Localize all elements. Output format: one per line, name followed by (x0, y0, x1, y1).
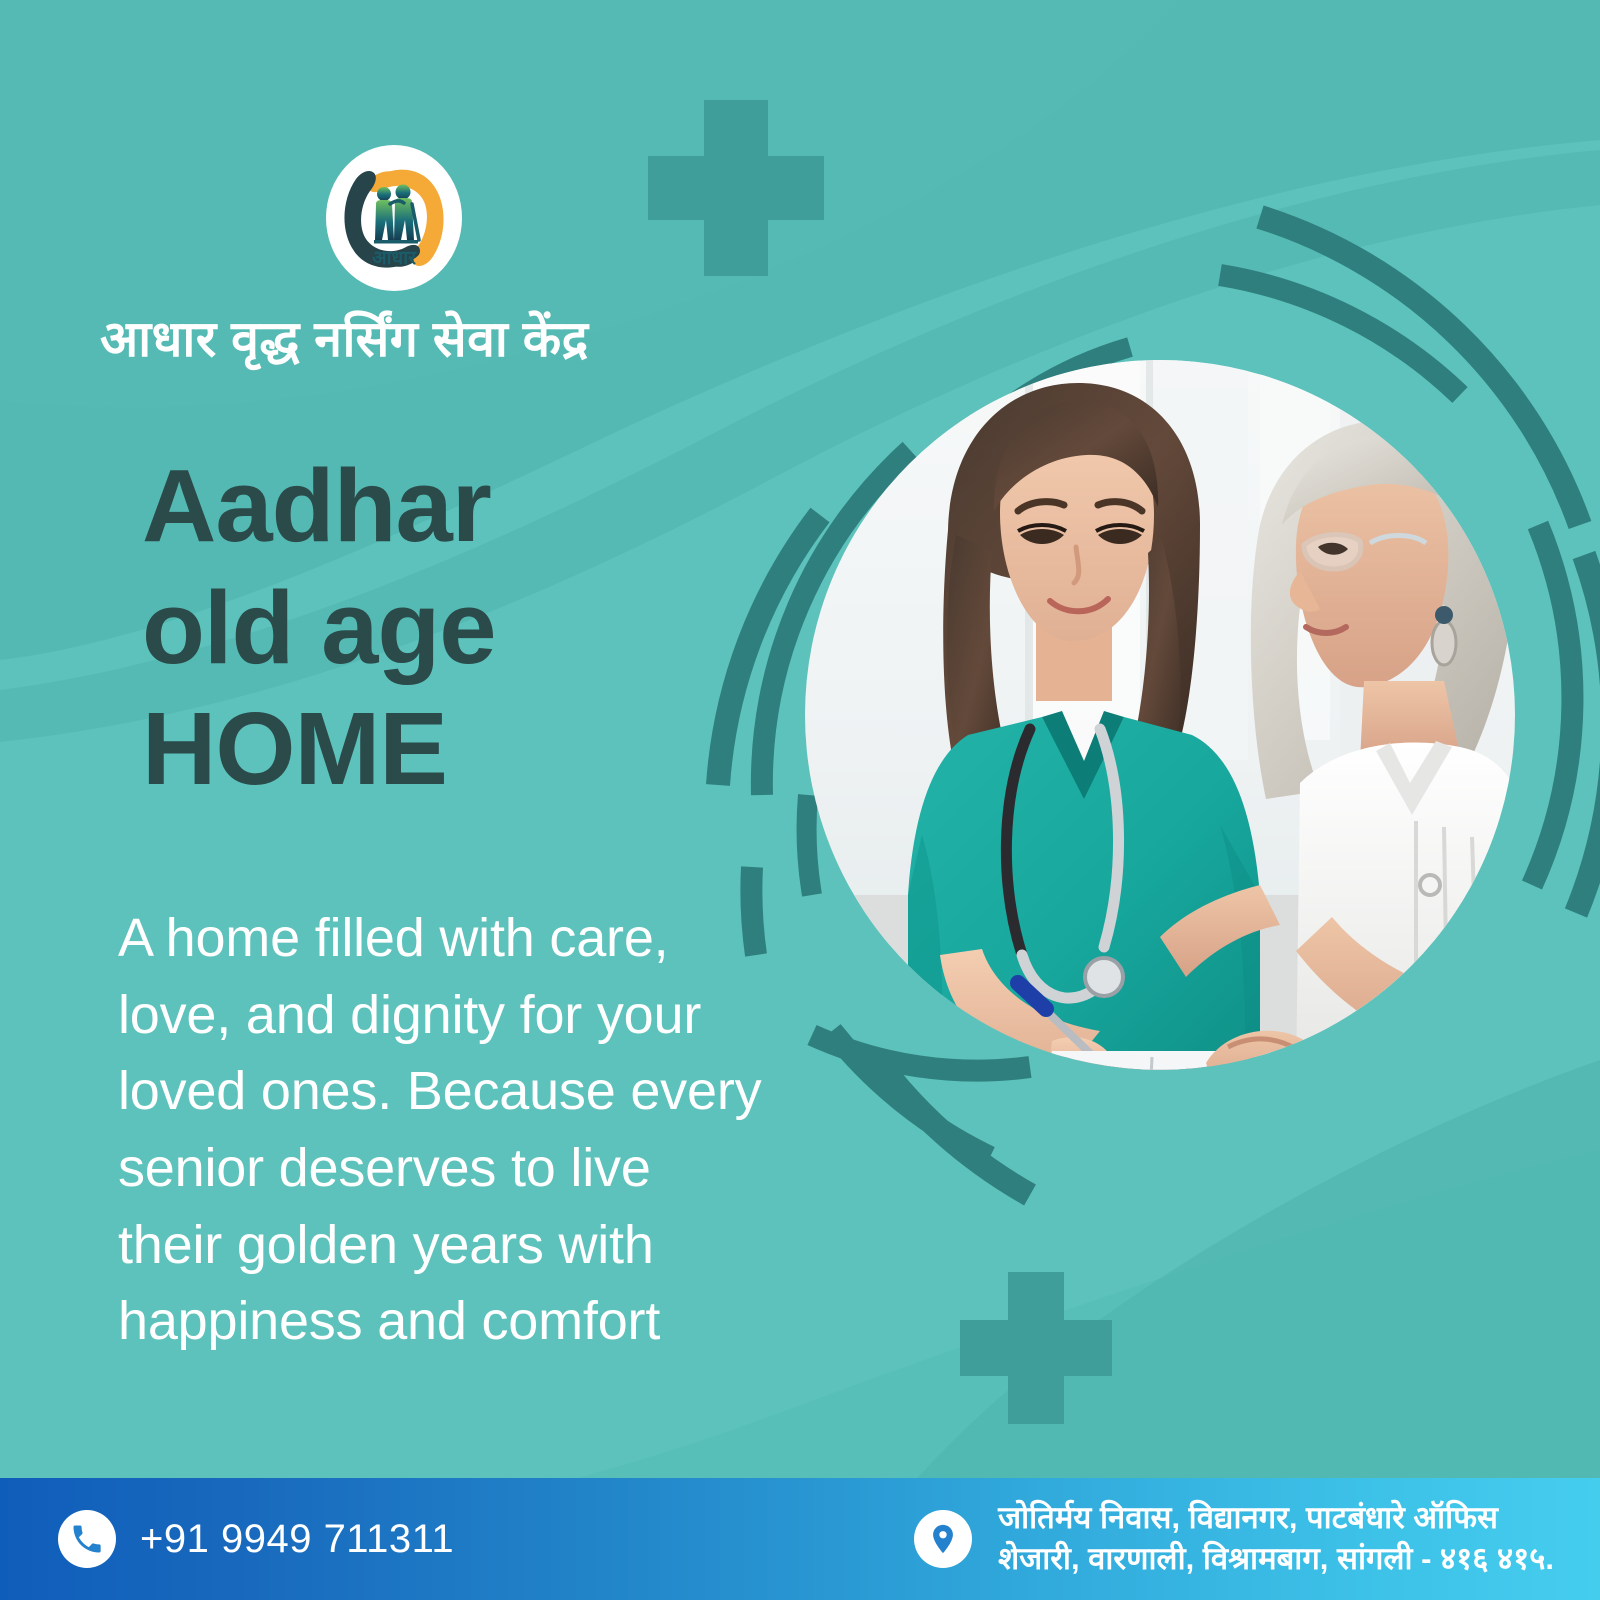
body-line-6: happiness and comfort (118, 1283, 868, 1360)
page-title: Aadhar old age HOME (142, 445, 762, 810)
nurse-elderly-photo (805, 360, 1538, 1155)
body-line-5: their golden years with (118, 1207, 868, 1284)
body-line-1: A home filled with care, (118, 900, 868, 977)
address-line-1: जोतिर्मय निवास, विद्यानगर, पाटबंधारे ऑफि… (998, 1498, 1554, 1539)
address: जोतिर्मय निवास, विद्यानगर, पाटबंधारे ऑफि… (998, 1498, 1554, 1580)
phone-contact[interactable]: +91 9949 711311 (58, 1510, 454, 1568)
headline-line-3: HOME (142, 688, 762, 810)
medical-cross-icon-bottom (960, 1272, 1112, 1424)
phone-icon (58, 1510, 116, 1568)
logo-wordmark: आधार (372, 248, 417, 269)
address-line-2: शेजारी, वारणाली, विश्रामबाग, सांगली - ४१… (998, 1539, 1554, 1580)
address-contact[interactable]: जोतिर्मय निवास, विद्यानगर, पाटबंधारे ऑफि… (914, 1498, 1554, 1580)
cross-horizontal-bar (960, 1320, 1112, 1376)
poster-canvas: आधार आधार वृद्ध नर्सिंग सेवा केंद्र Aadh… (0, 0, 1600, 1600)
brand-tagline: आधार वृद्ध नर्सिंग सेवा केंद्र (100, 312, 740, 367)
headline-line-2: old age (142, 567, 762, 689)
aadhar-logo: आधार (318, 142, 470, 294)
contact-footer: +91 9949 711311 जोतिर्मय निवास, विद्यानग… (0, 1478, 1600, 1600)
headline-line-1: Aadhar (142, 445, 762, 567)
body-line-3: loved ones. Because every (118, 1053, 868, 1130)
location-pin-icon (914, 1510, 972, 1568)
body-line-2: love, and dignity for your (118, 977, 868, 1054)
body-copy: A home filled with care, love, and digni… (118, 900, 868, 1360)
body-line-4: senior deserves to live (118, 1130, 868, 1207)
phone-number: +91 9949 711311 (140, 1517, 454, 1562)
